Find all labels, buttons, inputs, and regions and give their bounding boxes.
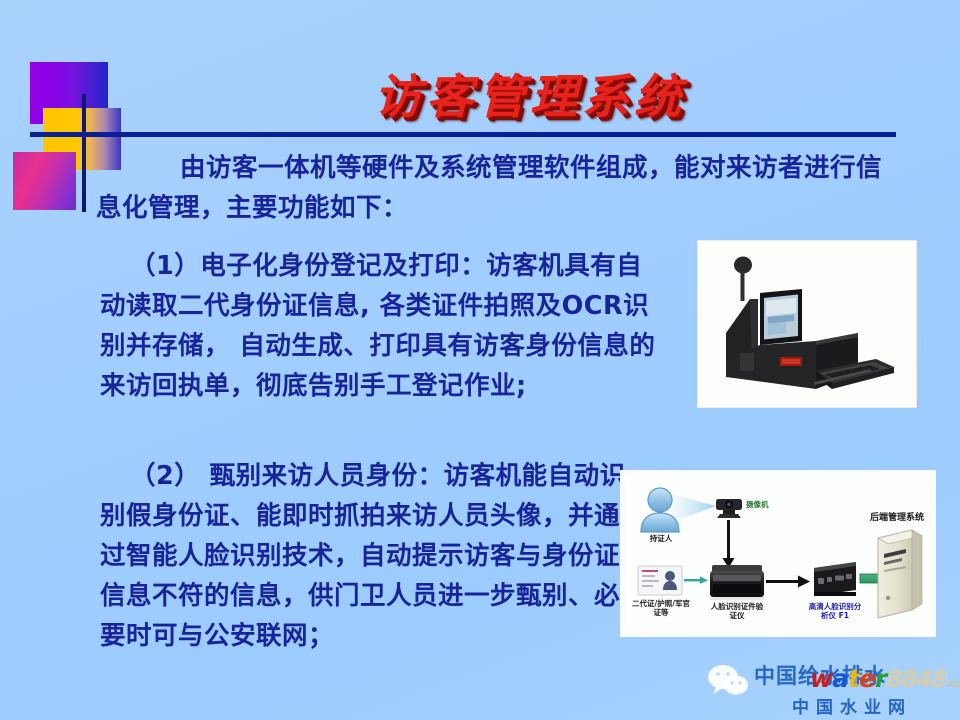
decor-horizontal-rule (30, 132, 896, 137)
diagram-label-camera: 摄像机 (746, 500, 792, 509)
watermark-site-url: water8848.com (810, 664, 960, 693)
visitor-kiosk-image (697, 240, 917, 408)
intro-paragraph: 由访客一体机等硬件及系统管理软件组成，能对来访者进行信息化管理，主要功能如下： (96, 148, 886, 228)
wm-letter-w: w (810, 664, 832, 693)
decor-vertical-line (82, 94, 86, 212)
kiosk-illustration (698, 241, 916, 407)
wm-number: 8848 (886, 667, 946, 693)
slide-title: 访客管理系统 (330, 58, 730, 127)
diagram-label-id-card: 二代证/护照/军官证等 (630, 599, 692, 617)
wm-letter-t: t (848, 664, 859, 693)
slide-canvas: 访客管理系统 由访客一体机等硬件及系统管理软件组成，能对来访者进行信息化管理，主… (0, 0, 960, 720)
face-recognition-flow-diagram: 持证人 摄像机 二代证/护照/军官证等 人脸识别证件验证仪 高清人脸识别分析仪 … (620, 470, 936, 637)
feature-paragraph-2: （2） 甄别来访人员身份：访客机能自动识别假身份证、能即时抓拍来访人员头像，并通… (100, 456, 640, 656)
decor-rect-magenta (13, 152, 76, 210)
wm-tld: .com (946, 677, 960, 690)
wm-letter-e: e (859, 664, 875, 693)
watermark-subtitle: 中国水业网 (792, 693, 912, 718)
diagram-label-server: 后端管理系统 (866, 514, 928, 523)
feature-paragraph-1: （1）电子化身份登记及打印：访客机具有自动读取二代身份证信息, 各类证件拍照及O… (100, 246, 660, 406)
wm-letter-r: r (875, 664, 886, 693)
wm-letter-a: a (832, 664, 848, 693)
watermark: 中国给水排水 water8848.com 中国水业网 (706, 660, 956, 718)
diagram-label-person: 持证人 (642, 534, 680, 543)
wechat-icon (706, 664, 750, 696)
diagram-label-analyzer: 高清人脸识别分析仪 F1 (806, 602, 864, 620)
diagram-label-verifier: 人脸识别证件验证仪 (708, 602, 766, 620)
